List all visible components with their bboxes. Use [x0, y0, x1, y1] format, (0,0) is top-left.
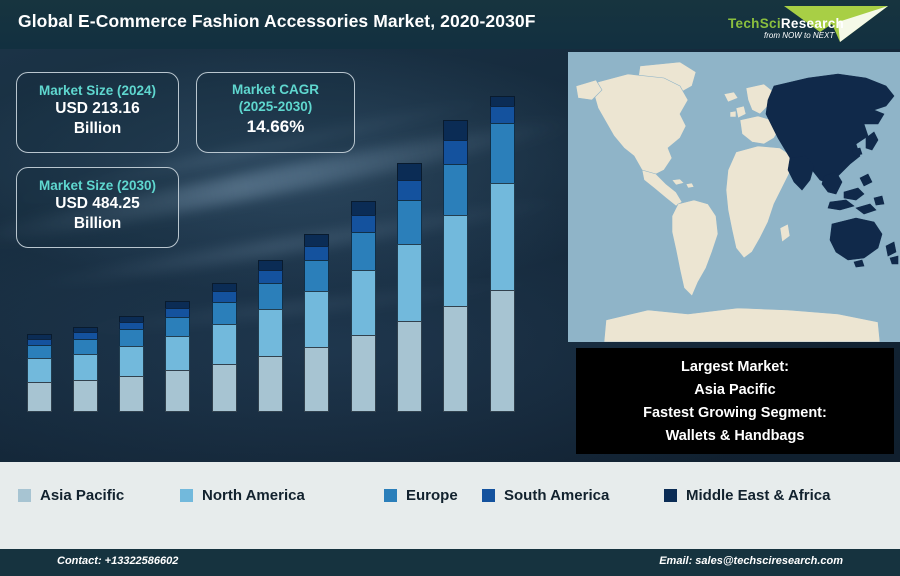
bar-segment-south-america [397, 180, 422, 201]
bar-segment-south-america [443, 140, 468, 164]
legend-label: Asia Pacific [40, 487, 124, 504]
bar-segment-south-america [351, 215, 376, 233]
bar-segment-europe [212, 302, 237, 326]
bar-segment-europe [304, 260, 329, 292]
bar-segment-asia-pacific [27, 382, 52, 412]
bar-segment-north-america [212, 324, 237, 364]
legend-item-south-america[interactable]: South America [482, 487, 609, 511]
bar-segment-asia-pacific [212, 364, 237, 412]
bar-segment-asia-pacific [119, 376, 144, 412]
bar-segment-asia-pacific [258, 356, 283, 412]
legend-item-europe[interactable]: Europe [384, 487, 458, 511]
bar-segment-north-america [258, 309, 283, 357]
infographic-root: Global E-Commerce Fashion Accessories Ma… [0, 0, 900, 576]
bar-segment-europe [258, 283, 283, 311]
bar-segment-north-america [27, 358, 52, 383]
bar-segment-north-america [490, 183, 515, 291]
callout-fastest-segment-value: Wallets & Handbags [576, 425, 894, 448]
bar-2029F [443, 120, 468, 411]
bar-2027F [351, 201, 376, 411]
legend-item-north-america[interactable]: North America [180, 487, 305, 511]
legend-swatch-icon [384, 489, 397, 502]
bar-2020 [27, 334, 52, 411]
stat-card-label: Market Size (2030) [17, 177, 178, 194]
legend-label: South America [504, 487, 609, 504]
bar-segment-asia-pacific [443, 306, 468, 412]
bar-segment-europe [351, 232, 376, 270]
page-title: Global E-Commerce Fashion Accessories Ma… [18, 11, 536, 32]
legend-swatch-icon [664, 489, 677, 502]
stat-card-label-period: (2025-2030) [197, 98, 354, 115]
bar-segment-north-america [165, 336, 190, 371]
callout-fastest-segment-label: Fastest Growing Segment: [576, 402, 894, 425]
techsci-research-logo: TechSciResearch from NOW to NEXT [712, 2, 892, 47]
footer-bar: Contact: +13322586602 Email: sales@techs… [0, 549, 900, 576]
legend-label: North America [202, 487, 305, 504]
chart-legend: Asia PacificNorth AmericaEuropeSouth Ame… [0, 484, 900, 532]
stat-card-market-cagr: Market CAGR (2025-2030) 14.66% [196, 72, 355, 153]
stat-card-market-size-2030: Market Size (2030) USD 484.25 Billion [16, 167, 179, 248]
logo-tagline: from NOW to NEXT [764, 31, 834, 40]
callout-largest-market-label: Largest Market: [576, 356, 894, 379]
legend-label: Europe [406, 487, 458, 504]
bar-segment-north-america [73, 354, 98, 381]
bar-2026F [304, 234, 329, 411]
bar-segment-asia-pacific [490, 290, 515, 412]
bar-segment-north-america [119, 346, 144, 376]
legend-swatch-icon [482, 489, 495, 502]
stat-card-market-size-2024: Market Size (2024) USD 213.16 Billion [16, 72, 179, 153]
stat-card-value: USD 484.25 [17, 194, 178, 214]
bar-segment-europe [490, 123, 515, 184]
stat-card-unit: Billion [17, 214, 178, 234]
footer-email: Email: sales@techsciresearch.com [659, 555, 843, 567]
bar-segment-asia-pacific [73, 380, 98, 412]
logo-wordmark: TechSciResearch [728, 16, 844, 31]
logo-name-research: Research [781, 16, 844, 31]
bar-segment-north-america [351, 270, 376, 336]
stat-card-label: Market Size (2024) [17, 82, 178, 99]
legend-item-middle-east-africa[interactable]: Middle East & Africa [664, 487, 830, 511]
bar-segment-middle-east-africa [397, 163, 422, 181]
bar-2023 [165, 301, 190, 411]
header-bar: Global E-Commerce Fashion Accessories Ma… [0, 0, 900, 49]
bar-2025E [258, 260, 283, 411]
stat-card-unit: Billion [17, 119, 178, 139]
bar-segment-north-america [443, 215, 468, 307]
bar-segment-europe [397, 200, 422, 245]
bar-segment-south-america [304, 246, 329, 261]
legend-label: Middle East & Africa [686, 487, 830, 504]
bar-segment-middle-east-africa [351, 201, 376, 216]
bar-segment-asia-pacific [397, 321, 422, 412]
bar-2028F [397, 163, 422, 411]
bar-2024 [212, 283, 237, 411]
legend-swatch-icon [180, 489, 193, 502]
bar-segment-asia-pacific [304, 347, 329, 412]
bar-segment-europe [119, 329, 144, 347]
callout-largest-market-value: Asia Pacific [576, 379, 894, 402]
bar-segment-north-america [304, 291, 329, 347]
callout-box: Largest Market: Asia Pacific Fastest Gro… [576, 348, 894, 454]
bar-segment-middle-east-africa [443, 120, 468, 141]
bar-segment-south-america [490, 106, 515, 124]
bar-segment-europe [73, 339, 98, 355]
bar-segment-europe [27, 345, 52, 360]
stat-card-value: 14.66% [197, 115, 354, 138]
bar-2022 [119, 316, 144, 411]
legend-swatch-icon [18, 489, 31, 502]
bar-segment-north-america [397, 244, 422, 322]
legend-item-asia-pacific[interactable]: Asia Pacific [18, 487, 124, 511]
bar-segment-europe [165, 317, 190, 337]
world-map-graphic [568, 52, 900, 342]
world-map [568, 52, 900, 342]
logo-name-techsci: TechSci [728, 16, 781, 31]
stat-card-value: USD 213.16 [17, 99, 178, 119]
bar-2021 [73, 327, 98, 411]
bar-2030F [490, 96, 515, 411]
bar-segment-asia-pacific [351, 335, 376, 412]
bar-segment-europe [443, 164, 468, 217]
stat-card-label: Market CAGR [197, 81, 354, 98]
footer-contact: Contact: +13322586602 [57, 555, 178, 567]
bar-segment-asia-pacific [165, 370, 190, 412]
